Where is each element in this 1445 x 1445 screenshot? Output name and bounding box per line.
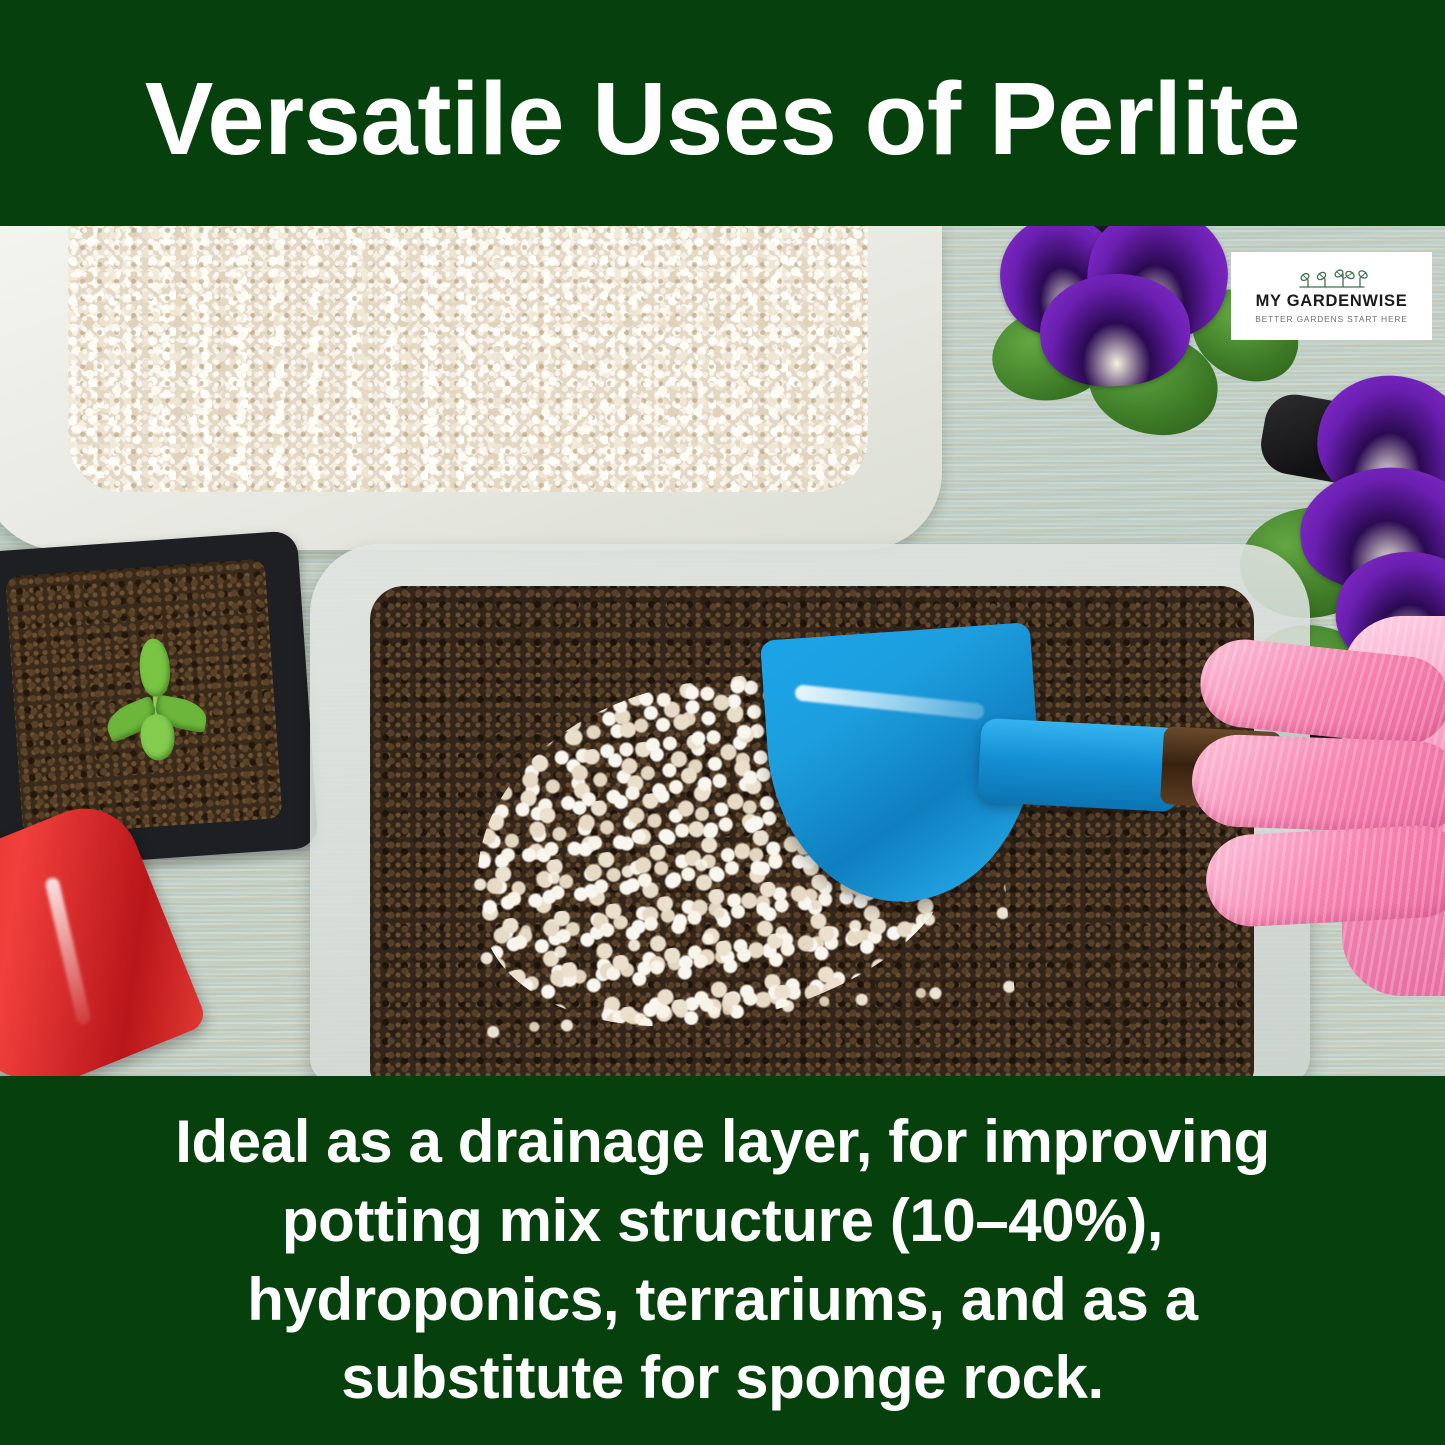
perlite-granules	[68, 226, 868, 492]
logo-brand-name: MY GARDENWISE	[1256, 293, 1408, 310]
perlite-uses-infographic: Versatile Uses of Perlite	[0, 0, 1445, 1445]
red-trowel-highlight	[44, 877, 91, 1026]
seedling-leaf	[138, 637, 172, 697]
page-title: Versatile Uses of Perlite	[145, 57, 1300, 170]
seedling-tray-soil	[5, 559, 283, 837]
perlite-speckle-texture	[68, 226, 868, 492]
seedling-sprouts-icon	[1295, 268, 1369, 290]
photo-panel: MY GARDENWISE BETTER GARDENS START HERE	[0, 226, 1445, 1076]
caption-band: Ideal as a drainage layer, for improving…	[0, 1076, 1445, 1445]
perlite-container	[0, 226, 942, 550]
pansy-flower-top	[1000, 226, 1260, 386]
trowel-neck	[977, 718, 1181, 812]
glove-knit-texture	[1204, 823, 1445, 928]
brand-logo-card[interactable]: MY GARDENWISE BETTER GARDENS START HERE	[1231, 252, 1432, 340]
header-band: Versatile Uses of Perlite	[0, 0, 1445, 226]
caption-line-4: substitute for sponge rock.	[341, 1339, 1104, 1418]
caption-line-1: Ideal as a drainage layer, for improving	[175, 1103, 1269, 1182]
glove-knit-texture	[1190, 733, 1445, 834]
caption-line-2: potting mix structure (10–40%),	[282, 1182, 1163, 1261]
pink-gardening-glove	[1192, 626, 1445, 976]
glove-finger	[1190, 733, 1445, 834]
caption-line-3: hydroponics, terrariums, and as a	[247, 1261, 1197, 1340]
logo-tagline: BETTER GARDENS START HERE	[1255, 314, 1407, 324]
glove-finger	[1204, 823, 1445, 928]
